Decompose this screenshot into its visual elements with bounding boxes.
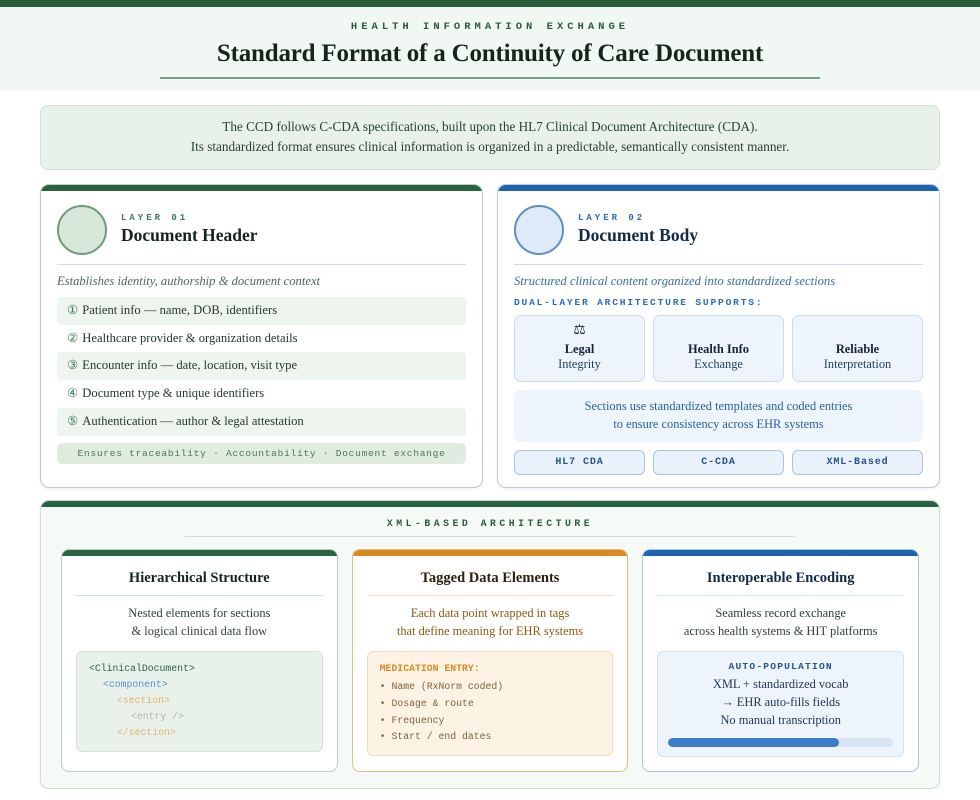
title-underline (160, 77, 820, 79)
xml-section-title: XML-BASED ARCHITECTURE (61, 518, 919, 529)
xml-card-3-description: Seamless record exchange across health s… (657, 605, 904, 641)
standards-badge-row: HL7 CDA C-CDA XML-Based (514, 450, 923, 475)
layer-01-subtitle: Establishes identity, authorship & docum… (57, 274, 466, 289)
xml-card-tagged-data-elements: Tagged Data Elements Each data point wra… (352, 549, 629, 772)
layer-02-label: LAYER 02 (578, 213, 698, 223)
medication-entry-box: MEDICATION ENTRY: • Name (RxNorm coded) … (367, 651, 614, 756)
footer-spacer (0, 789, 980, 800)
xml-card-1-desc-line-2: & logical clinical data flow (76, 623, 323, 641)
medication-entry-heading: MEDICATION ENTRY: (380, 661, 601, 678)
list-item: ⑤Authentication — author & legal attesta… (57, 408, 466, 436)
list-item-number: ② (67, 331, 78, 345)
list-item-label: Authentication — author & legal attestat… (82, 414, 303, 428)
support-title: Health Info (658, 342, 779, 357)
list-item: ③Encounter info — date, location, visit … (57, 352, 466, 380)
code-line-5: </section> (117, 727, 176, 738)
code-line-2: <component> (103, 679, 168, 690)
layer-01-name: Document Header (121, 225, 258, 246)
xml-card-interoperable-encoding: Interoperable Encoding Seamless record e… (642, 549, 919, 772)
supports-row: ⚖ Legal Integrity Health Info Exchange R… (514, 315, 923, 382)
auto-population-heading: AUTO-POPULATION (668, 661, 893, 672)
support-subtitle: Exchange (658, 357, 779, 372)
scales-icon: ⚖ (519, 324, 640, 338)
xml-card-2-desc-line-2: that define meaning for EHR systems (367, 623, 614, 641)
list-item: ②Healthcare provider & organization deta… (57, 325, 466, 353)
list-item-label: Encounter info — date, location, visit t… (82, 358, 297, 372)
xml-card-2-divider (367, 595, 614, 596)
xml-card-1-divider (76, 595, 323, 596)
xml-card-2-description: Each data point wrapped in tags that def… (367, 605, 614, 641)
auto-population-line-3: No manual transcription (668, 712, 893, 730)
xml-card-2-title: Tagged Data Elements (367, 570, 614, 587)
layer-01-footer-chip: Ensures traceability · Accountability · … (57, 443, 466, 464)
badge-hl7-cda[interactable]: HL7 CDA (514, 450, 645, 475)
list-item: ①Patient info — name, DOB, identifiers (57, 297, 466, 325)
auto-population-box: AUTO-POPULATION XML + standardized vocab… (657, 651, 904, 757)
support-subtitle: Integrity (519, 357, 640, 372)
list-item-number: ③ (67, 358, 78, 372)
list-item-label: Document type & unique identifiers (82, 386, 264, 400)
code-line-4: <entry /> (131, 711, 184, 722)
badge-xml-based[interactable]: XML-Based (792, 450, 923, 475)
xml-card-3-desc-line-2: across health systems & HIT platforms (657, 623, 904, 641)
layer-02-badge-circle (514, 205, 564, 255)
auto-population-progress-fill (668, 738, 839, 747)
page-header: HEALTH INFORMATION EXCHANGE Standard For… (0, 7, 980, 91)
code-line-3: <section> (117, 695, 170, 706)
layers-row: LAYER 01 Document Header Establishes ide… (0, 170, 980, 488)
layer-01-divider (57, 264, 466, 265)
list-item-number: ⑤ (67, 414, 78, 428)
xml-cards-row: Hierarchical Structure Nested elements f… (61, 549, 919, 772)
support-box-legal: ⚖ Legal Integrity (514, 315, 645, 382)
layer-01-label: LAYER 01 (121, 213, 258, 223)
note-line-1: Sections use standardized templates and … (524, 398, 913, 416)
list-item-number: ④ (67, 386, 78, 400)
layer-01-card: LAYER 01 Document Header Establishes ide… (40, 184, 483, 488)
list-item-number: ① (67, 303, 78, 317)
support-box-health-info: Health Info Exchange (653, 315, 784, 382)
xml-card-3-title: Interoperable Encoding (657, 570, 904, 587)
intro-wrapper: The CCD follows C-CDA specifications, bu… (0, 91, 980, 170)
auto-population-line-1: XML + standardized vocab (668, 676, 893, 694)
xml-title-underline (185, 536, 795, 537)
medication-entry-item-label: Start / end dates (391, 731, 491, 742)
list-item-label: Patient info — name, DOB, identifiers (82, 303, 277, 317)
layer-02-card: LAYER 02 Document Body Structured clinic… (497, 184, 940, 488)
support-title: Legal (519, 342, 640, 357)
xml-code-snippet: <ClinicalDocument> <component> <section>… (76, 651, 323, 752)
layer-02-note: Sections use standardized templates and … (514, 390, 923, 442)
support-box-reliable: Reliable Interpretation (792, 315, 923, 382)
support-subtitle: Interpretation (797, 357, 918, 372)
support-title: Reliable (797, 342, 918, 357)
layer-02-divider (514, 264, 923, 265)
xml-section-wrapper: XML-BASED ARCHITECTURE Hierarchical Stru… (0, 488, 980, 789)
auto-population-progress-track (668, 738, 893, 747)
badge-c-cda[interactable]: C-CDA (653, 450, 784, 475)
intro-line-2: Its standardized format ensures clinical… (59, 137, 921, 157)
medication-entry-item-label: Dosage & route (391, 698, 473, 709)
code-line-1: <ClinicalDocument> (89, 663, 195, 674)
auto-population-line-2: → EHR auto-fills fields (668, 694, 893, 712)
layer-02-name: Document Body (578, 225, 698, 246)
list-item-label: Healthcare provider & organization detai… (82, 331, 297, 345)
header-eyebrow: HEALTH INFORMATION EXCHANGE (0, 21, 980, 33)
xml-card-1-title: Hierarchical Structure (76, 570, 323, 587)
top-accent-bar (0, 0, 980, 7)
layer-02-subtitle: Structured clinical content organized in… (514, 274, 923, 289)
medication-entry-item: • Frequency (380, 713, 601, 730)
note-line-2: to ensure consistency across EHR systems (524, 416, 913, 434)
medication-entry-item-label: Frequency (391, 715, 444, 726)
medication-entry-item: • Name (RxNorm coded) (380, 679, 601, 696)
xml-card-2-desc-line-1: Each data point wrapped in tags (367, 605, 614, 623)
medication-entry-item-label: Name (RxNorm coded) (391, 681, 503, 692)
layer-01-feature-list: ①Patient info — name, DOB, identifiers ②… (57, 297, 466, 436)
xml-card-3-desc-line-1: Seamless record exchange (657, 605, 904, 623)
xml-card-1-description: Nested elements for sections & logical c… (76, 605, 323, 641)
xml-card-3-divider (657, 595, 904, 596)
medication-entry-item: • Start / end dates (380, 729, 601, 746)
xml-card-hierarchical-structure: Hierarchical Structure Nested elements f… (61, 549, 338, 772)
intro-line-1: The CCD follows C-CDA specifications, bu… (59, 117, 921, 137)
layer-01-header: LAYER 01 Document Header (57, 205, 466, 264)
list-item: ④Document type & unique identifiers (57, 380, 466, 408)
intro-banner: The CCD follows C-CDA specifications, bu… (40, 105, 940, 170)
supports-label: DUAL-LAYER ARCHITECTURE SUPPORTS: (514, 297, 923, 308)
layer-02-header: LAYER 02 Document Body (514, 205, 923, 264)
xml-card-1-desc-line-1: Nested elements for sections (76, 605, 323, 623)
layer-01-badge-circle (57, 205, 107, 255)
xml-architecture-panel: XML-BASED ARCHITECTURE Hierarchical Stru… (40, 500, 940, 789)
page-title: Standard Format of a Continuity of Care … (0, 40, 980, 68)
medication-entry-item: • Dosage & route (380, 696, 601, 713)
